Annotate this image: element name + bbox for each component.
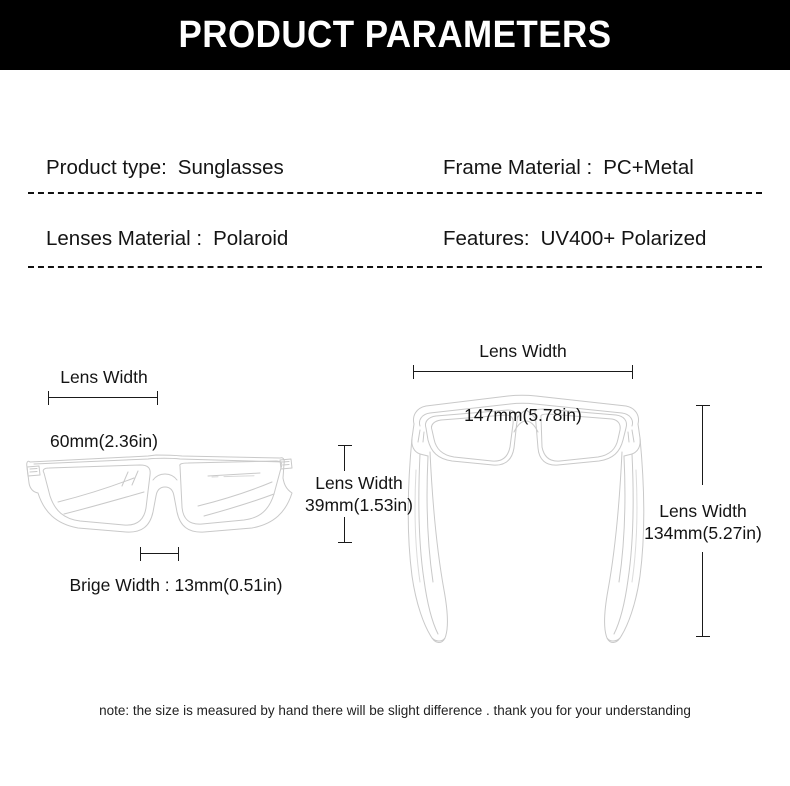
dimension-tick-start — [48, 391, 49, 405]
dimension-bar — [702, 405, 703, 485]
footer-note: note: the size is measured by hand there… — [0, 703, 790, 718]
spec-value: UV400+ Polarized — [541, 227, 707, 251]
spec-lenses-material: Lenses Material : Polaroid — [46, 216, 288, 262]
spec-product-type: Product type: Sunglasses — [46, 145, 284, 191]
spec-value: PC+Metal — [603, 156, 694, 180]
dimension-value: 60mm(2.36in) — [26, 430, 182, 452]
spec-row: Lenses Material : Polaroid Features: UV4… — [28, 216, 762, 262]
dimension-value: 134mm(5.27in) — [640, 522, 766, 544]
dimension-tick-start — [338, 445, 352, 446]
dimension-label: Lens Width — [299, 472, 419, 494]
dimension-bar — [344, 445, 345, 471]
spec-label: Product type: — [46, 156, 167, 180]
dimension-line-horizontal — [140, 547, 179, 561]
spec-row: Product type: Sunglasses Frame Material … — [28, 145, 762, 191]
dimension-bar — [702, 552, 703, 637]
dimension-value: 147mm(5.78in) — [400, 404, 646, 426]
dimension-bridge-width: Brige Width : 13mm(0.51in) — [56, 547, 296, 596]
dimension-tick-start — [413, 365, 414, 379]
dimension-line-vertical-lower — [696, 552, 710, 637]
dimension-line-vertical-upper — [696, 405, 710, 485]
spec-label: Frame Material : — [443, 156, 592, 180]
dimension-bar — [413, 371, 633, 372]
spec-frame-material: Frame Material : PC+Metal — [443, 145, 694, 191]
dimension-tick-end — [632, 365, 633, 379]
dimension-tick-end — [338, 542, 352, 543]
sunglasses-top-view-illustration — [398, 390, 654, 652]
dimension-tick-start — [140, 547, 141, 561]
dimension-bar — [344, 517, 345, 543]
dimension-bar — [48, 397, 158, 398]
dimension-tick-end — [178, 547, 179, 561]
dimension-line-vertical-upper — [338, 445, 352, 471]
dimension-label: Lens Width — [400, 340, 646, 362]
dimension-tick-end — [696, 636, 710, 637]
dimension-label: Lens Width — [26, 366, 182, 388]
spec-label: Features: — [443, 227, 530, 251]
spec-divider — [28, 192, 762, 194]
page-title: PRODUCT PARAMETERS — [32, 0, 759, 70]
dimension-line-horizontal — [413, 365, 633, 379]
dimension-label: Lens Width — [649, 500, 757, 522]
spec-label: Lenses Material : — [46, 227, 202, 251]
dimension-label: Brige Width : 13mm(0.51in) — [56, 574, 296, 596]
dimension-tick-end — [157, 391, 158, 405]
dimension-tick-start — [696, 405, 710, 406]
spec-divider — [28, 266, 762, 268]
dimension-front-lens-width: Lens Width 60mm(2.36in) — [26, 366, 182, 453]
dimension-diagram: Lens Width 60mm(2.36in) Brige Width : 13… — [0, 300, 790, 680]
spec-value: Sunglasses — [178, 156, 284, 180]
dimension-bar — [140, 553, 179, 554]
spec-value: Polaroid — [213, 227, 288, 251]
spec-features: Features: UV400+ Polarized — [443, 216, 706, 262]
product-parameters-page: PRODUCT PARAMETERS Product type: Sunglas… — [0, 0, 790, 786]
sunglasses-front-view-illustration — [22, 440, 294, 540]
header-banner: PRODUCT PARAMETERS — [0, 0, 790, 70]
dimension-frame-width: Lens Width 147mm(5.78in) — [400, 340, 646, 427]
dimension-line-horizontal — [48, 391, 158, 405]
dimension-line-vertical-lower — [338, 517, 352, 543]
dimension-value: 39mm(1.53in) — [293, 494, 425, 516]
